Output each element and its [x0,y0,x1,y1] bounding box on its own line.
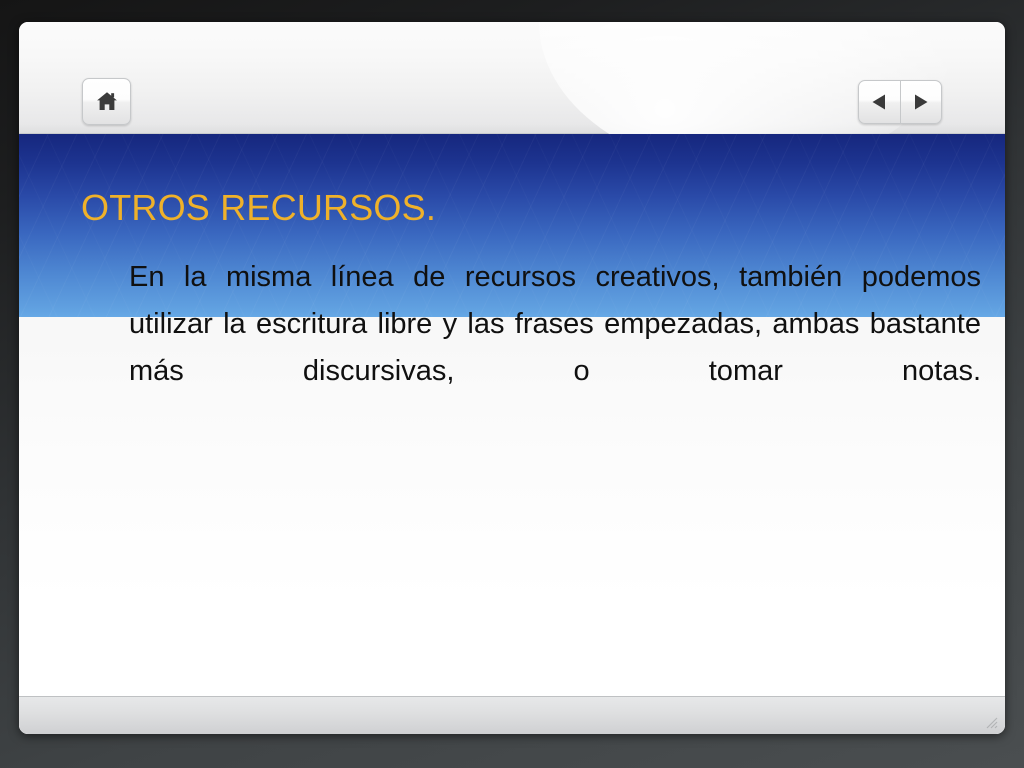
application-frame: OTROS RECURSOS. En la misma línea de rec… [0,0,1024,768]
slide-content-area: OTROS RECURSOS. En la misma línea de rec… [19,134,1005,734]
slide-title: OTROS RECURSOS. [81,190,436,226]
triangle-left-icon [871,93,888,111]
home-button[interactable] [82,78,131,125]
viewer-toolbar [19,22,1005,134]
triangle-right-icon [912,93,929,111]
navigation-button-group [858,80,942,124]
nav-next-button[interactable] [901,81,942,123]
slide-body-text: En la misma línea de recursos creativos,… [129,254,981,442]
presentation-viewer-panel: OTROS RECURSOS. En la misma línea de rec… [19,22,1005,734]
nav-prev-button[interactable] [859,81,901,123]
home-icon [96,91,118,112]
resize-grip-icon[interactable] [982,713,998,729]
viewer-status-bar [19,696,1005,734]
